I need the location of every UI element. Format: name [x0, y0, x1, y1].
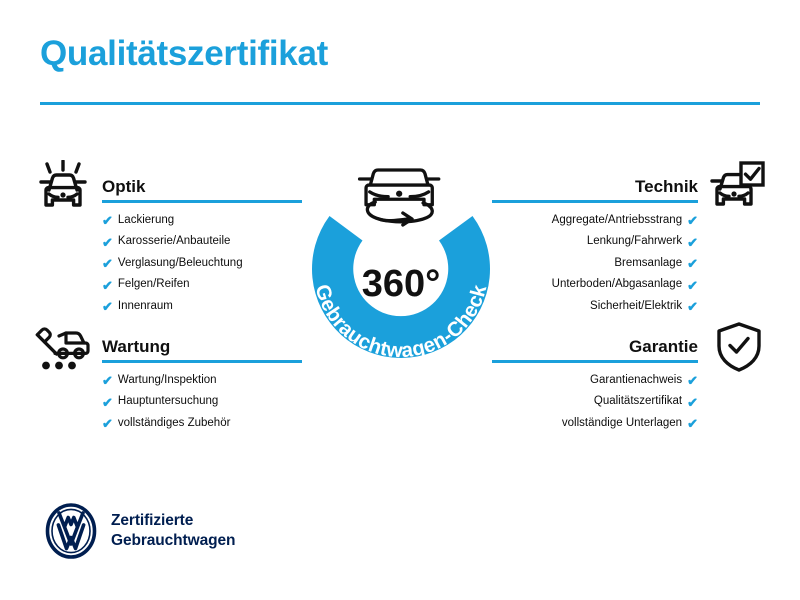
section-wartung: Wartung ✔Wartung/Inspektion ✔Hauptunters… [36, 320, 308, 439]
section-wartung-title: Wartung [102, 338, 170, 355]
section-technik-underline [492, 200, 698, 203]
list-item-label: Qualitätszertifikat [594, 396, 682, 408]
list-item-label: Unterboden/Abgasanlage [552, 279, 682, 291]
section-garantie-header: Garantie [492, 320, 764, 368]
shield-check-icon [712, 320, 766, 374]
footer-logo-text: Zertifizierte Gebrauchtwagen [111, 511, 235, 551]
check-icon: ✔ [102, 374, 113, 387]
list-item-label: Verglasung/Beleuchtung [118, 258, 243, 270]
list-item: ✔Karosserie/Anbauteile [36, 236, 308, 249]
check-icon: ✔ [102, 417, 113, 430]
section-garantie-list: ✔Garantienachweis ✔Qualitätszertifikat ✔… [492, 374, 764, 430]
list-item-label: Sicherheit/Elektrik [590, 301, 682, 313]
list-item: ✔Wartung/Inspektion [36, 374, 308, 387]
car-wrench-icon [35, 320, 91, 374]
list-item: ✔Bremsanlage [492, 257, 764, 270]
check-icon: ✔ [102, 236, 113, 249]
list-item-label: vollständiges Zubehör [118, 418, 231, 430]
section-technik-title: Technik [635, 178, 698, 195]
badge-360-check: Gebrauchtwagen-Check 360° [293, 152, 509, 374]
check-icon: ✔ [687, 417, 698, 430]
section-technik: Technik ✔Aggregate/Antriebsstrang ✔Lenku… [492, 160, 764, 322]
section-technik-list: ✔Aggregate/Antriebsstrang ✔Lenkung/Fahrw… [492, 214, 764, 313]
list-item: ✔Innenraum [36, 300, 308, 313]
section-wartung-list: ✔Wartung/Inspektion ✔Hauptuntersuchung ✔… [36, 374, 308, 430]
badge-center-label: 360° [362, 263, 441, 305]
list-item: ✔vollständiges Zubehör [36, 417, 308, 430]
list-item-label: Wartung/Inspektion [118, 375, 217, 387]
check-icon: ✔ [102, 257, 113, 270]
section-garantie-title: Garantie [629, 338, 698, 355]
section-optik-title: Optik [102, 178, 145, 195]
list-item-label: Hauptuntersuchung [118, 396, 218, 408]
check-icon: ✔ [687, 236, 698, 249]
list-item: ✔Felgen/Reifen [36, 279, 308, 292]
list-item: ✔Unterboden/Abgasanlage [492, 279, 764, 292]
check-icon: ✔ [687, 300, 698, 313]
check-icon: ✔ [687, 214, 698, 227]
list-item-label: Lackierung [118, 215, 174, 227]
section-optik: Optik ✔Lackierung ✔Karosserie/Anbauteile… [36, 160, 308, 322]
section-garantie: Garantie ✔Garantienachweis ✔Qualitätszer… [492, 320, 764, 439]
list-item-label: Aggregate/Antriebsstrang [552, 215, 682, 227]
list-item: ✔Hauptuntersuchung [36, 396, 308, 409]
check-icon: ✔ [687, 279, 698, 292]
section-optik-list: ✔Lackierung ✔Karosserie/Anbauteile ✔Verg… [36, 214, 308, 313]
footer-line-2: Gebrauchtwagen [111, 532, 235, 549]
check-icon: ✔ [687, 396, 698, 409]
list-item-label: Innenraum [118, 301, 173, 313]
car-rotate-icon [360, 170, 439, 225]
section-wartung-header: Wartung [36, 320, 308, 368]
volkswagen-logo [45, 503, 97, 559]
certificate-page: Qualitätszertifikat [0, 0, 800, 600]
list-item: ✔Garantienachweis [492, 374, 764, 387]
list-item: ✔Aggregate/Antriebsstrang [492, 214, 764, 227]
list-item: ✔Sicherheit/Elektrik [492, 300, 764, 313]
section-optik-header: Optik [36, 160, 308, 208]
check-icon: ✔ [102, 279, 113, 292]
list-item: ✔Qualitätszertifikat [492, 396, 764, 409]
list-item-label: Felgen/Reifen [118, 279, 190, 291]
list-item-label: Bremsanlage [614, 258, 682, 270]
section-technik-header: Technik [492, 160, 764, 208]
car-checkbox-icon [708, 160, 766, 214]
section-wartung-underline [102, 360, 302, 363]
list-item-label: Garantienachweis [590, 375, 682, 387]
list-item: ✔Lenkung/Fahrwerk [492, 236, 764, 249]
check-icon: ✔ [102, 396, 113, 409]
page-title: Qualitätszertifikat [40, 36, 328, 71]
footer-line-1: Zertifizierte [111, 512, 193, 529]
check-icon: ✔ [102, 214, 113, 227]
list-item-label: Lenkung/Fahrwerk [587, 236, 682, 248]
list-item: ✔Lackierung [36, 214, 308, 227]
title-divider [40, 102, 760, 105]
section-garantie-underline [492, 360, 698, 363]
car-shine-icon [35, 160, 91, 214]
check-icon: ✔ [687, 374, 698, 387]
check-icon: ✔ [102, 300, 113, 313]
list-item: ✔Verglasung/Beleuchtung [36, 257, 308, 270]
list-item: ✔vollständige Unterlagen [492, 417, 764, 430]
list-item-label: vollständige Unterlagen [562, 418, 682, 430]
check-icon: ✔ [687, 257, 698, 270]
footer-logo-lockup: Zertifizierte Gebrauchtwagen [45, 503, 235, 559]
section-optik-underline [102, 200, 302, 203]
list-item-label: Karosserie/Anbauteile [118, 236, 231, 248]
